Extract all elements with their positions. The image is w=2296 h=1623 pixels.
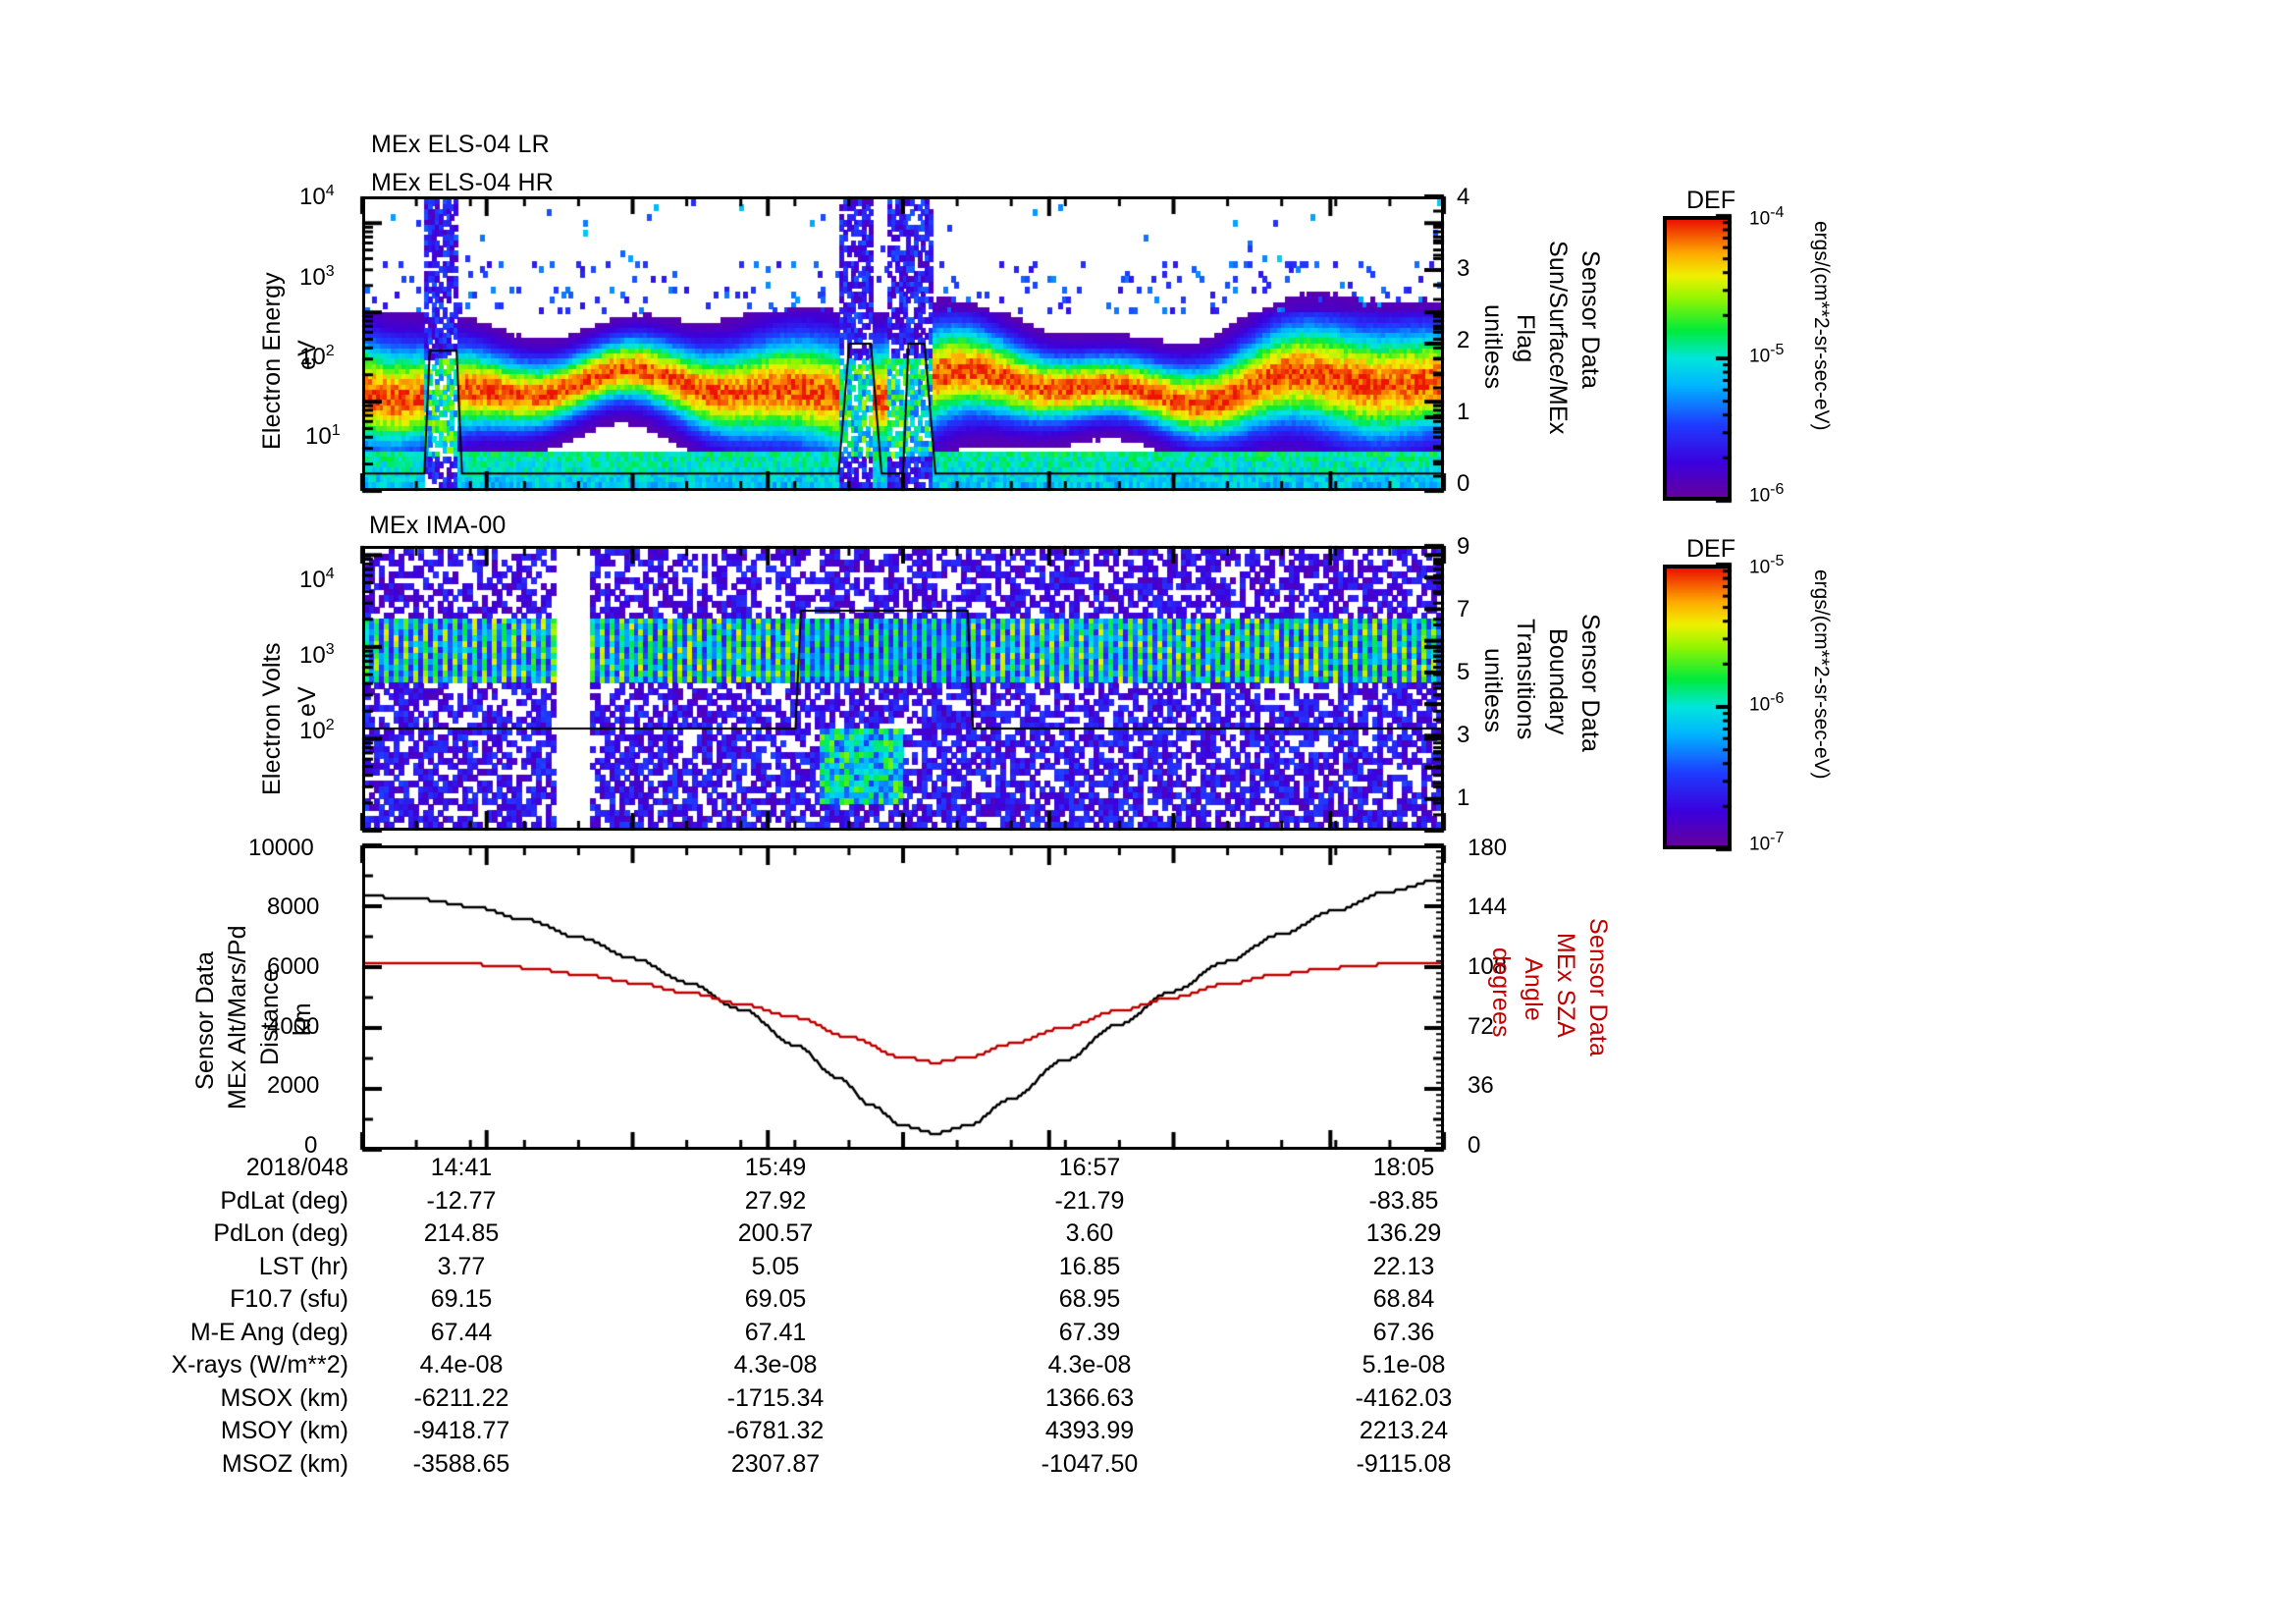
table-cell: 2307.87 — [697, 1450, 854, 1479]
panel-altitude-sza[interactable] — [362, 845, 1444, 1150]
panel3-right-tick-36: 36 — [1468, 1072, 1494, 1100]
table-cell: 1366.63 — [1011, 1384, 1168, 1413]
table-cell: 67.39 — [1011, 1319, 1168, 1347]
panel-electron-energy-spectrogram[interactable] — [362, 196, 1444, 491]
panel3-ylabel-left-2: MEx Alt/Mars/Pd — [224, 903, 252, 1109]
table-row-label: PdLon (deg) — [213, 1219, 348, 1248]
line-canvas-alt-sza — [365, 848, 1441, 1147]
table-cell: 68.95 — [1011, 1285, 1168, 1314]
panel2-ytick-1e2: 102 — [299, 717, 335, 745]
spectrogram-canvas-els — [365, 199, 1441, 488]
panel2-ytick-1e4: 104 — [299, 566, 335, 594]
table-cell: 4.4e-08 — [383, 1351, 540, 1380]
colorbar1-tick-mid: 10-5 — [1749, 342, 1784, 367]
panel1-right-tick-1: 1 — [1457, 399, 1469, 426]
panel1-right-tick-0: 0 — [1457, 470, 1469, 498]
table-row-label: 2018/048 — [246, 1154, 348, 1182]
colorbar2-tick-top: 10-5 — [1749, 553, 1784, 578]
table-cell: 67.36 — [1325, 1319, 1482, 1347]
panel1-ylabel-right-3: Flag — [1511, 314, 1539, 393]
table-cell: 16:57 — [1011, 1154, 1168, 1182]
table-cell: 67.44 — [383, 1319, 540, 1347]
table-cell: 5.1e-08 — [1325, 1351, 1482, 1380]
panel1-right-tick-4: 4 — [1457, 184, 1469, 211]
table-cell: -9115.08 — [1325, 1450, 1482, 1479]
panel1-right-tick-2: 2 — [1457, 327, 1469, 354]
spectrogram-canvas-ima — [365, 549, 1441, 828]
panel3-ylabel-right-3: Angle — [1519, 957, 1547, 1055]
panel1-ylabel-left: Electron Energy — [258, 253, 287, 450]
table-row-label: MSOX (km) — [220, 1384, 348, 1413]
panel3-ylabel-right-2: MEx SZA — [1551, 933, 1579, 1080]
panel3-right-tick-144: 144 — [1468, 893, 1507, 921]
panel3-ylabel-left-3: Distance — [256, 947, 285, 1065]
table-cell: -21.79 — [1011, 1187, 1168, 1216]
colorbar2 — [1663, 565, 1732, 849]
table-cell: 67.41 — [697, 1319, 854, 1347]
panel2-ylabel-right-1: Sensor Data — [1575, 614, 1604, 790]
panel3-ytick-2000: 2000 — [267, 1072, 319, 1100]
table-cell: 14:41 — [383, 1154, 540, 1182]
table-cell: 4393.99 — [1011, 1417, 1168, 1445]
panel3-right-tick-180: 180 — [1468, 835, 1507, 862]
table-cell: -83.85 — [1325, 1187, 1482, 1216]
panel1-ytick-1e1: 101 — [305, 422, 341, 451]
colorbar1 — [1663, 216, 1732, 501]
panel1-right-tick-3: 3 — [1457, 255, 1469, 283]
panel2-right-tick-3: 3 — [1457, 722, 1469, 749]
table-cell: 136.29 — [1325, 1219, 1482, 1248]
table-cell: 2213.24 — [1325, 1417, 1482, 1445]
panel-ion-spectrogram[interactable] — [362, 546, 1444, 831]
table-cell: -1715.34 — [697, 1384, 854, 1413]
table-cell: 5.05 — [697, 1253, 854, 1281]
panel2-right-tick-5: 5 — [1457, 659, 1469, 686]
colorbar2-unit: ergs/(cm**2-sr-sec-eV) — [1809, 569, 1833, 854]
table-cell: 18:05 — [1325, 1154, 1482, 1182]
panel1-ytick-1e4: 104 — [299, 183, 335, 211]
panel1-ylabel-right-1: Sensor Data — [1575, 250, 1604, 427]
panel1-ytick-1e3: 103 — [299, 263, 335, 292]
colorbar2-tick-bot: 10-7 — [1749, 830, 1784, 855]
colorbar1-unit: ergs/(cm**2-sr-sec-eV) — [1809, 221, 1833, 506]
table-row-label: PdLat (deg) — [220, 1187, 348, 1216]
table-cell: -6781.32 — [697, 1417, 854, 1445]
panel2-ylabel-right-3: Transitions — [1511, 619, 1539, 776]
table-cell: 22.13 — [1325, 1253, 1482, 1281]
table-row-label: MSOZ (km) — [222, 1450, 348, 1479]
panel2-right-tick-7: 7 — [1457, 596, 1469, 623]
panel1-ylabel-right-4: unitless — [1478, 304, 1507, 412]
table-cell: -12.77 — [383, 1187, 540, 1216]
table-cell: 3.60 — [1011, 1219, 1168, 1248]
table-cell: 16.85 — [1011, 1253, 1168, 1281]
panel3-ytick-8000: 8000 — [267, 893, 319, 921]
panel3-ylabel-right-1: Sensor Data — [1583, 918, 1612, 1095]
table-cell: 4.3e-08 — [1011, 1351, 1168, 1380]
table-cell: 3.77 — [383, 1253, 540, 1281]
table-cell: 69.05 — [697, 1285, 854, 1314]
colorbar2-tick-mid: 10-6 — [1749, 690, 1784, 716]
table-cell: 214.85 — [383, 1219, 540, 1248]
colorbar2-gradient — [1667, 568, 1728, 845]
table-row-label: X-rays (W/m**2) — [171, 1351, 348, 1380]
colorbar1-tick-bot: 10-6 — [1749, 481, 1784, 507]
table-cell: -4162.03 — [1325, 1384, 1482, 1413]
panel3-ytick-10000: 10000 — [248, 835, 314, 862]
panel2-right-tick-9: 9 — [1457, 533, 1469, 561]
colorbar1-tick-top: 10-4 — [1749, 204, 1784, 230]
table-cell: -3588.65 — [383, 1450, 540, 1479]
table-row-label: F10.7 (sfu) — [230, 1285, 348, 1314]
panel2-ylabel-right-4: unitless — [1478, 648, 1507, 756]
colorbar1-gradient — [1667, 220, 1728, 497]
table-cell: -9418.77 — [383, 1417, 540, 1445]
panel2-ylabel-right-2: Boundary — [1543, 628, 1572, 766]
table-cell: 27.92 — [697, 1187, 854, 1216]
panel2-right-tick-1: 1 — [1457, 784, 1469, 812]
panel3-ylabel-right-4: degrees — [1486, 947, 1515, 1065]
table-cell: 15:49 — [697, 1154, 854, 1182]
table-cell: 4.3e-08 — [697, 1351, 854, 1380]
colorbar1-label: DEF — [1686, 187, 1735, 215]
panel1-yunit-left: eV — [294, 331, 322, 370]
colorbar2-label: DEF — [1686, 535, 1735, 564]
panel3-ylabel-left-1: Sensor Data — [191, 918, 220, 1090]
panel3-ylabel-left-4: km — [289, 987, 317, 1036]
panel2-ylabel-left: Electron Volts — [258, 609, 287, 795]
table-cell: -6211.22 — [383, 1384, 540, 1413]
panel1-title-lr: MEx ELS-04 LR — [371, 131, 550, 159]
panel2-ytick-1e3: 103 — [299, 641, 335, 670]
panel1-ylabel-right-2: Sun/Surface/MEx — [1543, 241, 1572, 457]
table-cell: 69.15 — [383, 1285, 540, 1314]
table-cell: 68.84 — [1325, 1285, 1482, 1314]
table-row-label: LST (hr) — [259, 1253, 348, 1281]
table-row-label: M-E Ang (deg) — [190, 1319, 348, 1347]
panel2-yunit-left: eV — [294, 677, 322, 717]
panel1-title-hr: MEx ELS-04 HR — [371, 169, 554, 197]
table-row-label: MSOY (km) — [221, 1417, 348, 1445]
table-cell: 200.57 — [697, 1219, 854, 1248]
table-cell: -1047.50 — [1011, 1450, 1168, 1479]
panel2-title: MEx IMA-00 — [369, 512, 507, 540]
parameter-table: 2018/048PdLat (deg)PdLon (deg)LST (hr)F1… — [0, 1154, 1669, 1478]
